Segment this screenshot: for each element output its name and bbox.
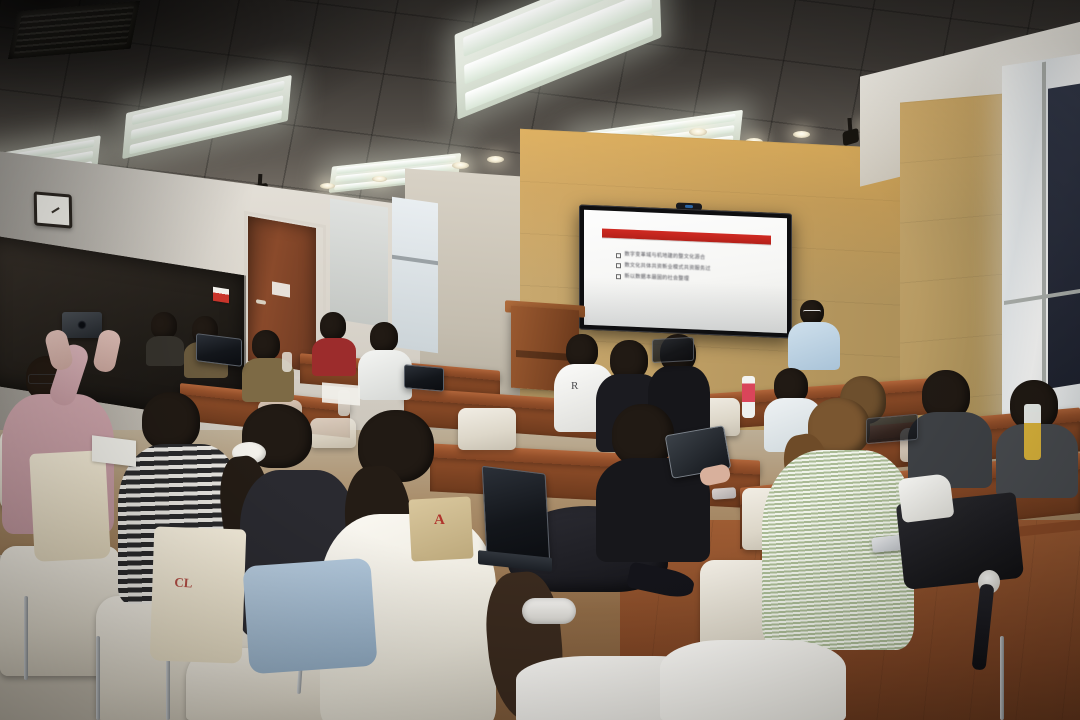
hair-scrunchie [522,598,576,624]
list-item [146,312,184,364]
head [566,334,598,368]
recessed-downlight [320,183,335,189]
tote-bag-print: CL [173,574,221,603]
head [252,330,280,360]
red-safety-sign [213,287,229,304]
compact-camera[interactable] [62,312,102,338]
torso [312,338,356,376]
wall-clock-icon [34,191,73,228]
tote-bag[interactable] [29,450,111,562]
shirt-letter: R [571,380,578,392]
denim-jacket [242,558,377,675]
slide-bullet-text: 数字变革域与机地建的整文化源合 [624,253,705,262]
list-item [312,312,354,372]
water-bottle[interactable] [1024,404,1041,460]
presentation-display[interactable]: 数字变革域与机地建的整文化源合 数文化共体共资新业模式共资服务过 新以数据本最固… [579,205,792,339]
head [142,392,200,450]
slide-red-band [602,229,770,245]
torso [146,336,184,366]
smartphone[interactable] [712,487,737,500]
laptop[interactable] [652,337,694,363]
head [320,312,346,340]
torso [660,640,846,720]
paper-notes [322,382,360,405]
recessed-downlight [793,131,810,138]
slide-content: 数字变革域与机地建的整文化源合 数文化共体共资新业模式共资服务过 新以数据本最固… [584,210,787,334]
laptop[interactable] [866,414,918,445]
chair-leg [1000,636,1004,720]
tablet-attendee [596,404,706,554]
head [370,322,398,352]
window-dark-pane [1048,83,1080,388]
tote-bag-print: A [434,512,462,534]
white-shirt-attendee [660,640,840,720]
back-wall-panel [330,198,388,327]
cap-brim [626,561,696,600]
list-item [358,322,410,398]
torso [788,322,840,370]
bullet-square-icon [616,253,621,258]
recessed-downlight [487,156,504,163]
slide-bullet-text: 数文化共体共资新业模式共资服务过 [624,264,710,273]
laptop[interactable] [482,466,551,565]
recessed-downlight [452,162,469,169]
paper-cup[interactable] [282,352,292,372]
presenter-at-screen [786,300,846,370]
chair-leg [24,596,28,680]
screen-glare [584,276,787,333]
recessed-downlight [689,128,707,136]
paper-notes [92,435,136,466]
glasses-icon [803,310,821,316]
head [612,404,674,466]
white-plastic-bag [898,473,955,523]
bullet-square-icon [616,264,621,269]
lecture-hall-photo: 数字变革域与机地建的整文化源合 数文化共体共资新业模式共资服务过 新以数据本最固… [0,0,1080,720]
recessed-downlight [372,176,387,182]
chair-leg [96,636,100,720]
head [151,312,177,339]
laptop[interactable] [404,364,444,391]
list-item [908,370,990,490]
water-bottle[interactable] [742,376,755,418]
laptop[interactable] [196,333,242,367]
